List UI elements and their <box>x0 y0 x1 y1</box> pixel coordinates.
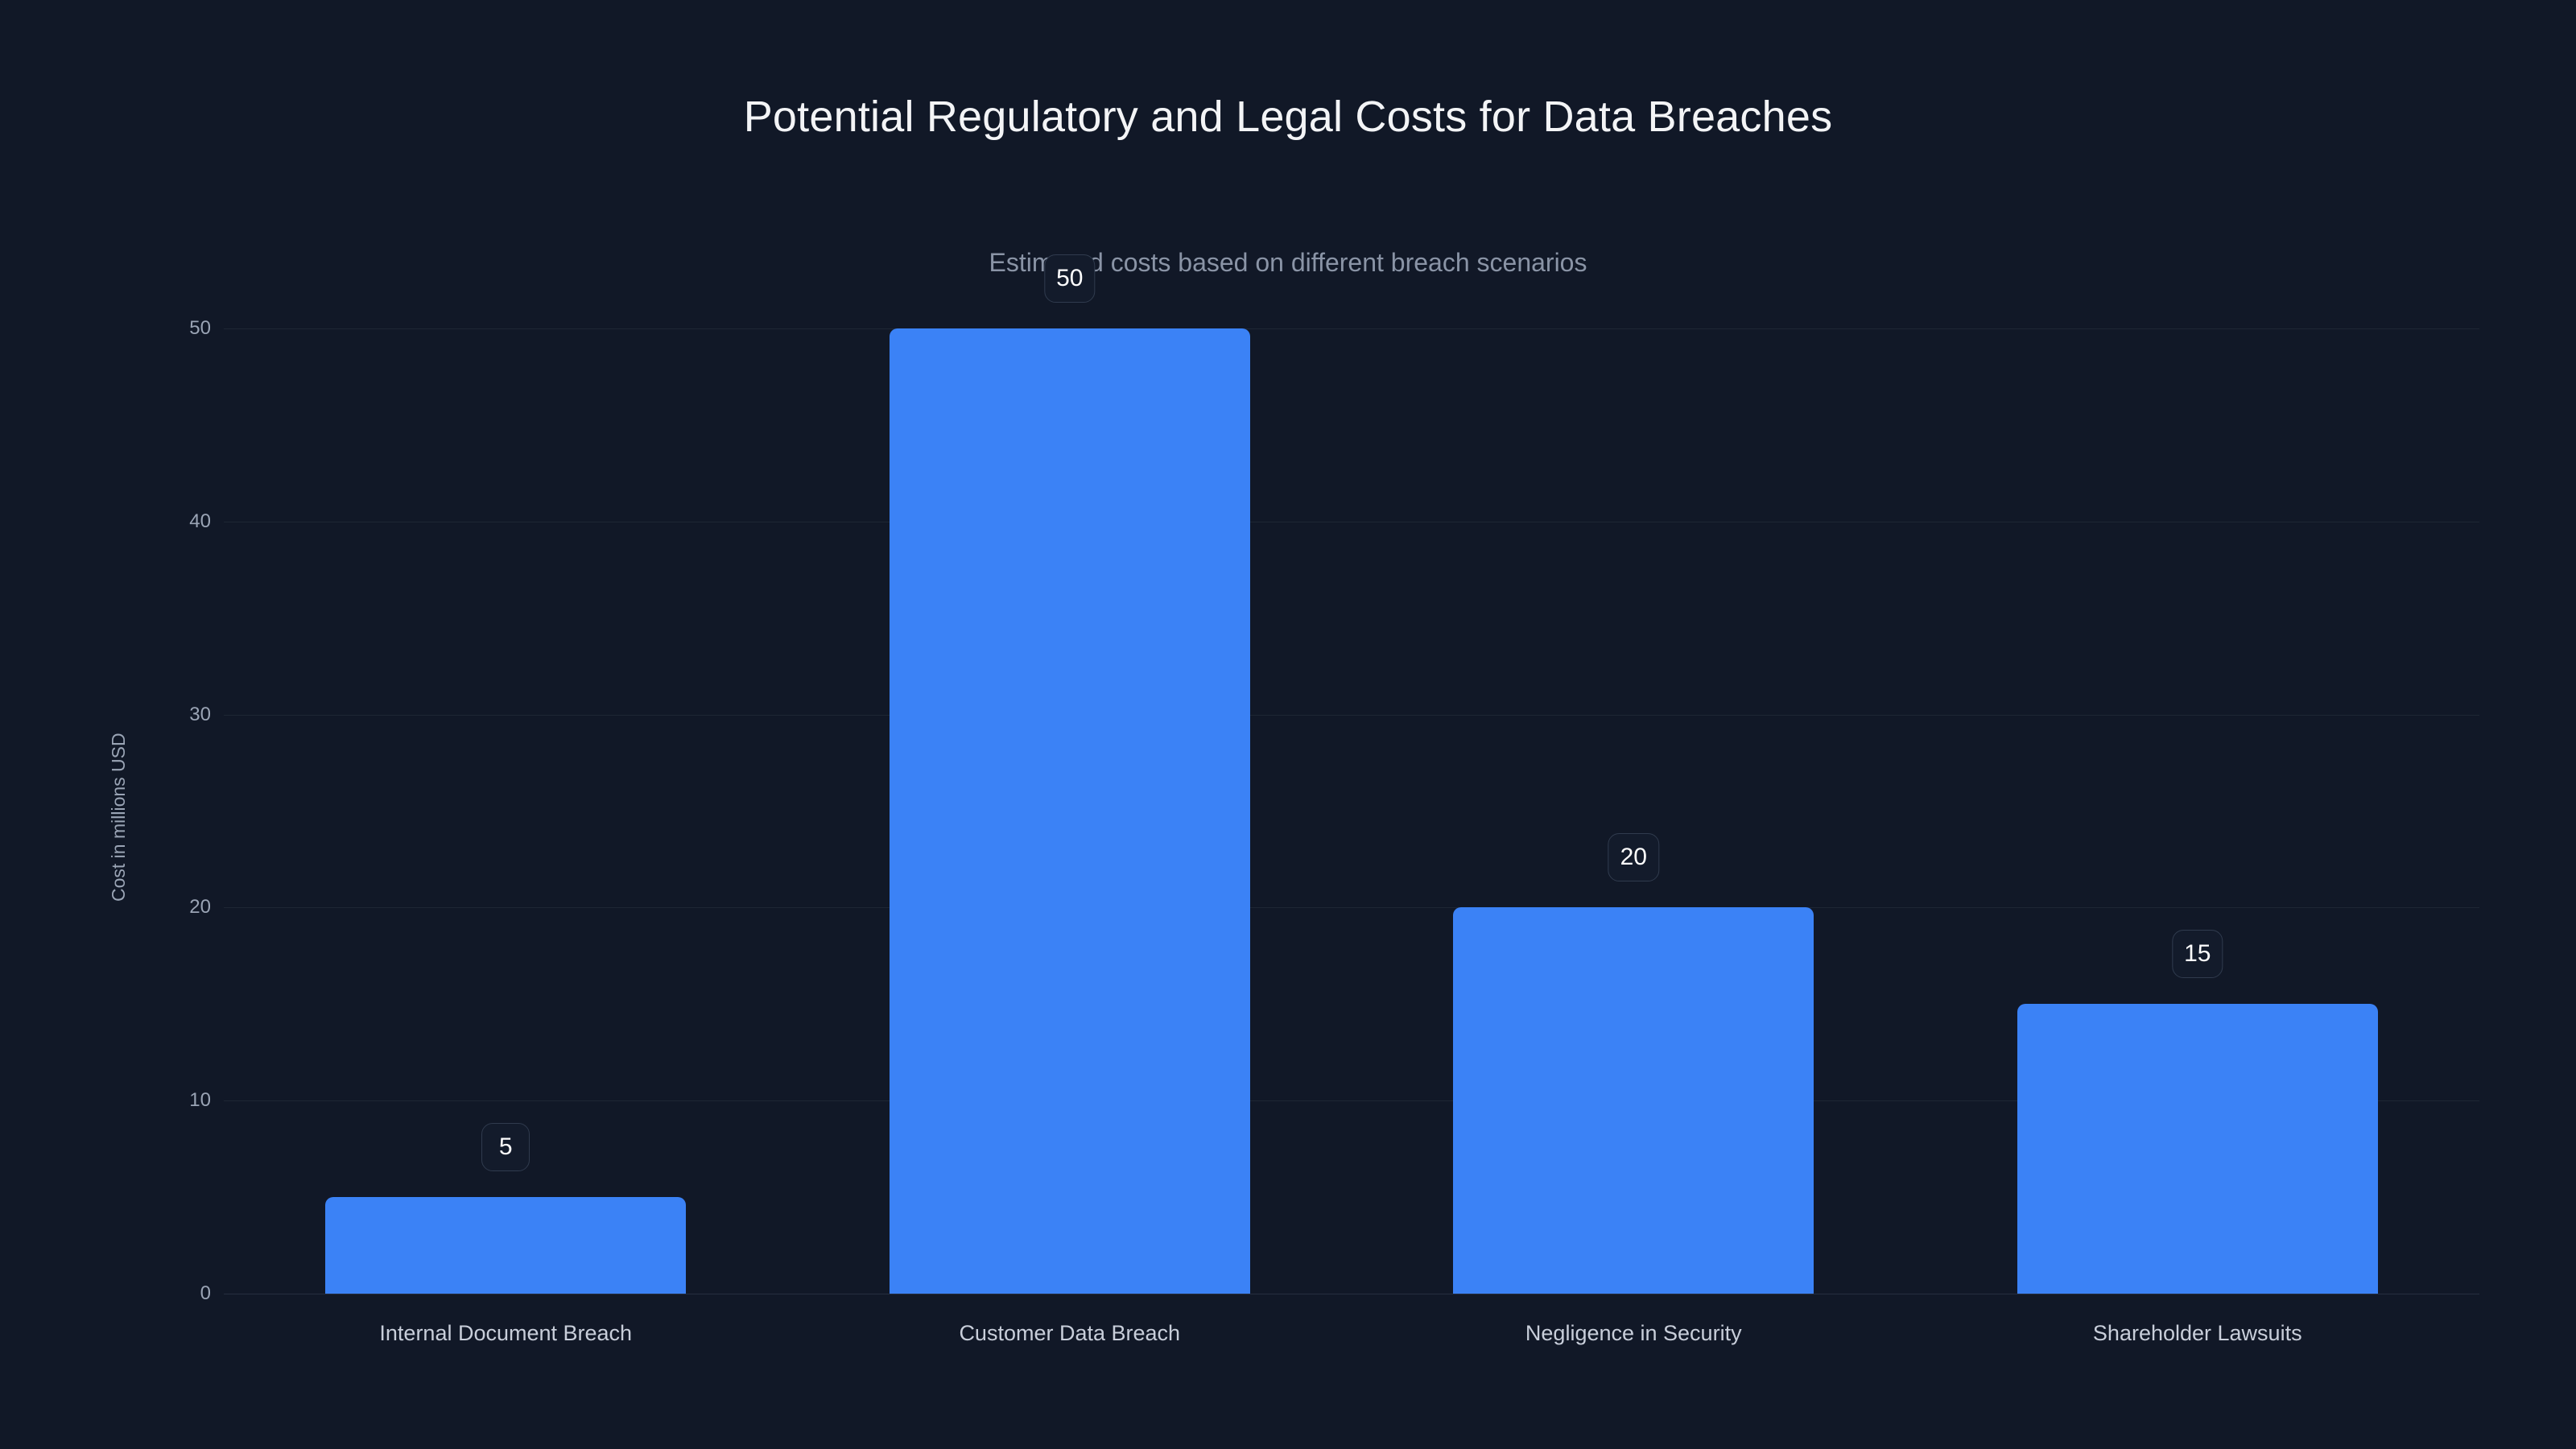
bar-value-label: 5 <box>481 1123 530 1171</box>
bar[interactable] <box>2017 1004 2378 1294</box>
x-axis-tick-label: Customer Data Breach <box>788 1323 1352 1344</box>
y-axis-tick-label: 10 <box>66 1091 211 1110</box>
x-axis-tick-label: Shareholder Lawsuits <box>1916 1323 2480 1344</box>
bar[interactable] <box>890 328 1250 1294</box>
y-axis-tick-label: 20 <box>66 898 211 917</box>
plot-area <box>224 328 2479 1294</box>
bar[interactable] <box>325 1197 686 1294</box>
x-axis-tick-label: Internal Document Breach <box>224 1323 788 1344</box>
bar-chart: Potential Regulatory and Legal Costs for… <box>0 0 2576 1449</box>
gridline <box>224 715 2479 716</box>
bar[interactable] <box>1453 907 1814 1294</box>
chart-subtitle: Estimated costs based on different breac… <box>0 250 2576 275</box>
chart-title: Potential Regulatory and Legal Costs for… <box>0 95 2576 138</box>
gridline <box>224 522 2479 522</box>
bar-value-label: 20 <box>1608 833 1659 881</box>
gridline <box>224 328 2479 329</box>
bar-value-label: 15 <box>2172 930 2223 978</box>
y-axis-tick-label: 0 <box>66 1284 211 1303</box>
gridline <box>224 1294 2479 1294</box>
gridline <box>224 907 2479 908</box>
x-axis-tick-label: Negligence in Security <box>1352 1323 1916 1344</box>
y-axis-tick-label: 30 <box>66 705 211 724</box>
bar-value-label: 50 <box>1044 254 1095 303</box>
y-axis-title: Cost in millions USD <box>106 499 130 902</box>
y-axis-tick-label: 50 <box>66 319 211 338</box>
y-axis-tick-label: 40 <box>66 512 211 531</box>
